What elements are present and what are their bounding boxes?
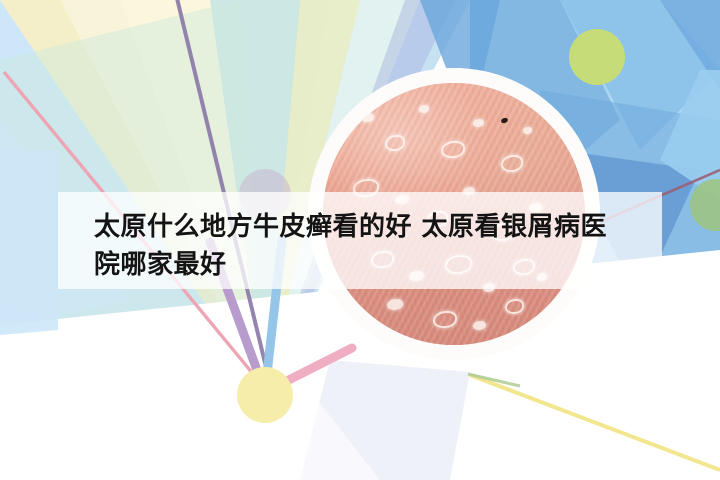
headline-panel: 太原什么地方牛皮癣看的好 太原看银屑病医院哪家最好 — [58, 192, 662, 289]
green-circle-top — [569, 29, 625, 85]
yellow-circle-pin — [237, 367, 293, 423]
page-title: 太原什么地方牛皮癣看的好 太原看银屑病医院哪家最好 — [94, 208, 626, 284]
banner-image: 太原什么地方牛皮癣看的好 太原看银屑病医院哪家最好 — [0, 0, 720, 480]
